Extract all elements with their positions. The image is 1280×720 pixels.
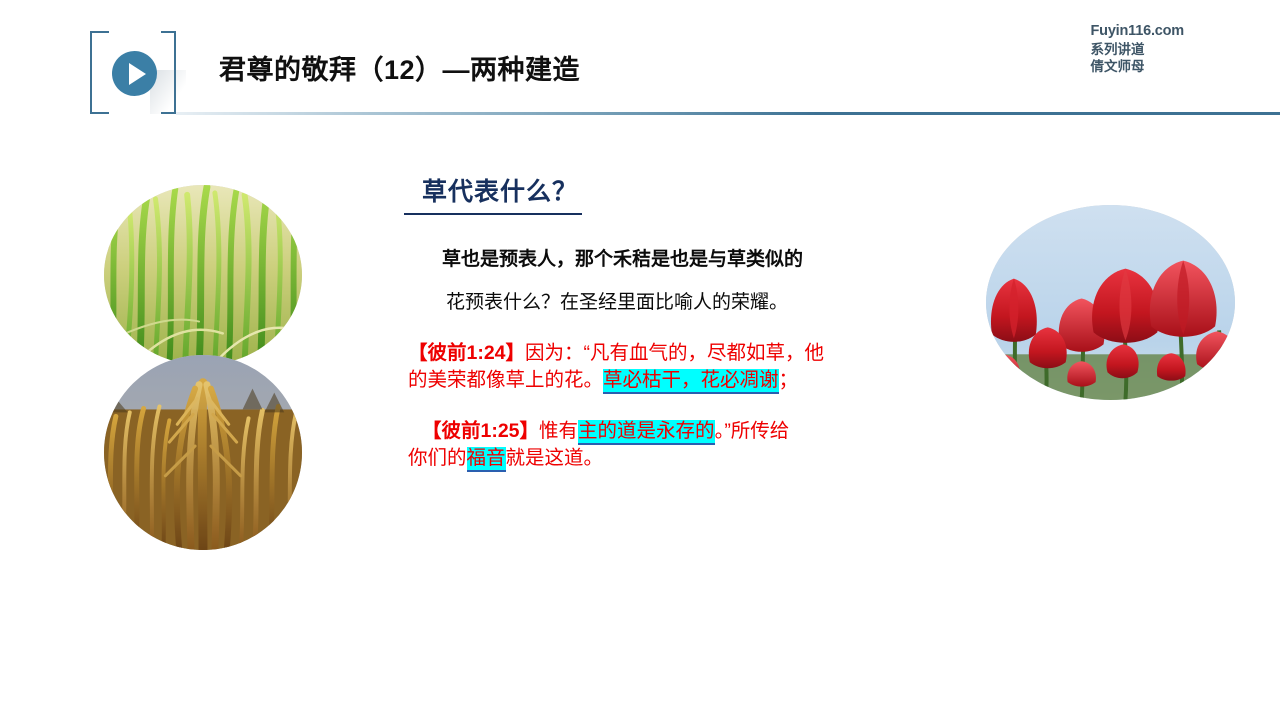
page-title: 君尊的敬拜（12）—两种建造 xyxy=(219,48,580,87)
header-divider xyxy=(176,112,1280,115)
brand-subtitle-speaker: 倩文师母 xyxy=(1091,58,1185,75)
scripture-verse-1: 【彼前1:24】因为：“凡有血气的，尽都如草，他 的美荣都像草上的花。草必枯干，… xyxy=(404,340,964,394)
play-triangle-icon xyxy=(129,63,146,85)
brand-site: Fuyin116.com xyxy=(1091,22,1185,41)
verse-2-text-d: 就是这道。 xyxy=(506,447,604,469)
body-paragraph-plain: 花预表什么？在圣经里面比喻人的荣耀。 xyxy=(404,288,964,317)
body-paragraph-bold: 草也是预表人，那个禾秸是也是与草类似的 xyxy=(404,245,964,274)
brand-block: Fuyin116.com 系列讲道 倩文师母 xyxy=(1091,22,1185,75)
red-tulips-photo xyxy=(986,205,1235,400)
verse-1-highlight: 草必枯干，花必凋谢 xyxy=(603,369,779,394)
play-icon[interactable] xyxy=(112,51,157,96)
verse-1-text-b: 的美荣都像草上的花。 xyxy=(408,369,603,391)
verse-reference-2: 【彼前1:25】 xyxy=(422,420,539,442)
green-grass-photo xyxy=(104,185,302,365)
verse-2-highlight-1: 主的道是永存的 xyxy=(578,420,715,445)
verse-2-text-b: 。”所传给 xyxy=(715,420,790,442)
verse-2-highlight-2: 福音 xyxy=(467,447,506,472)
slide-body: 草代表什么？ 草也是预表人，那个禾秸是也是与草类似的 花预表什么？在圣经里面比喻… xyxy=(404,172,964,496)
tulips-illustration xyxy=(986,205,1235,400)
verse-reference-1: 【彼前1:24】 xyxy=(408,342,525,364)
verse-1-text-a: 因为：“凡有血气的，尽都如草，他 xyxy=(525,342,824,364)
straw-illustration xyxy=(104,355,302,550)
verse-2-text-a: 惟有 xyxy=(539,420,578,442)
brand-subtitle-series: 系列讲道 xyxy=(1091,41,1185,58)
scripture-verse-2: 【彼前1:25】惟有主的道是永存的。”所传给 你们的福音就是这道。 xyxy=(404,418,964,472)
verse-2-text-c: 你们的 xyxy=(408,447,467,469)
verse-1-text-c: ； xyxy=(779,369,799,391)
slide-header: 君尊的敬拜（12）—两种建造 Fuyin116.com 系列讲道 倩文师母 xyxy=(0,0,1280,125)
section-heading: 草代表什么？ xyxy=(404,172,582,215)
dried-straw-photo xyxy=(104,355,302,550)
grass-illustration xyxy=(104,185,302,365)
